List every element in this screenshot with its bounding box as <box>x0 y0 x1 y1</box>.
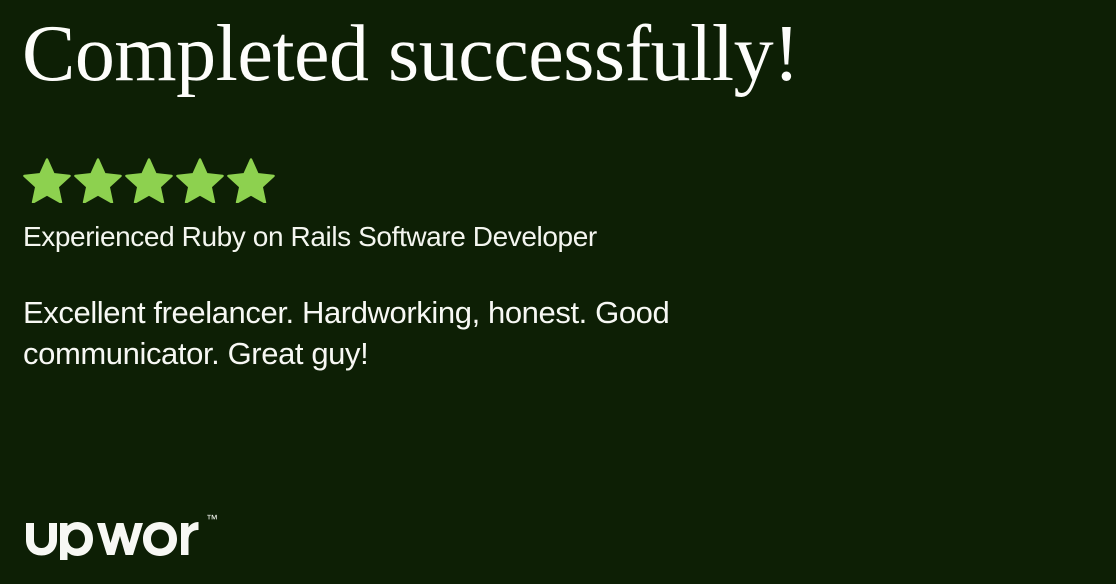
upwork-logo: ™ <box>24 508 218 560</box>
job-title: Experienced Ruby on Rails Software Devel… <box>23 220 597 254</box>
star-3-icon <box>125 158 173 203</box>
star-1-icon <box>23 158 71 203</box>
review-line-1: Excellent freelancer. Hardworking, hones… <box>23 292 823 333</box>
star-2-icon <box>74 158 122 203</box>
page-title: Completed successfully! <box>22 8 799 100</box>
review-text: Excellent freelancer. Hardworking, hones… <box>23 292 823 374</box>
star-5-icon <box>227 158 275 203</box>
star-rating <box>23 158 275 203</box>
star-4-icon <box>176 158 224 203</box>
upwork-wordmark-icon <box>24 508 204 560</box>
review-line-2: communicator. Great guy! <box>23 333 823 374</box>
trademark-symbol: ™ <box>206 513 218 525</box>
upwork-review-card: Completed successfully! E <box>0 0 1116 584</box>
